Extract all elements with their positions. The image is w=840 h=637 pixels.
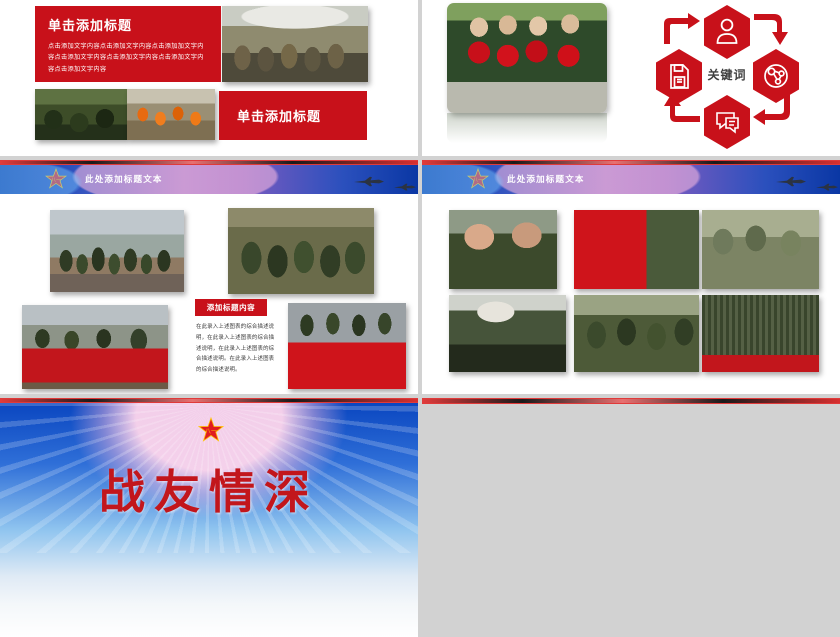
group-hug-photo — [574, 295, 699, 372]
arrow-elbow-down-icon — [752, 12, 792, 51]
bayi-flag-photo — [288, 303, 406, 389]
flood-rescue-photo — [127, 89, 215, 140]
slide-header-bar: 八一 此处添加标题文本 — [422, 165, 840, 194]
caption-title-badge[interactable]: 添加标题内容 — [195, 299, 267, 316]
fighter-jet-icon — [776, 174, 806, 185]
arrow-elbow-right-icon — [662, 12, 702, 51]
svg-text:八一: 八一 — [473, 178, 483, 184]
hexagon-user[interactable] — [702, 4, 752, 60]
bayi-star-emblem-icon: 八一 — [198, 417, 224, 443]
salute-bayi-flag-photo — [574, 210, 699, 289]
slide-thumbnail-photo-collage-title[interactable]: 单击添加标题 点击添加文字内容点击添加文字内容点击添加加文字内容点击添加文字内容… — [0, 0, 418, 156]
fighter-jet-icon-2 — [394, 178, 416, 186]
fighter-jet-icon-2 — [816, 178, 838, 186]
jungle-training-photo — [35, 89, 127, 140]
svg-text:八一: 八一 — [205, 429, 217, 436]
title-card-secondary[interactable]: 单击添加标题 — [219, 91, 367, 140]
rifle-handover-photo — [449, 295, 566, 372]
insignia-removal-photo — [449, 210, 557, 289]
title-card-body: 点击添加文字内容点击添加文字内容点击添加加文字内容点击添加文字内容点击添加文字内… — [48, 41, 208, 75]
slide-thumbnail-empty-placeholder[interactable] — [422, 398, 840, 637]
slide-thumbnail-grid: 单击添加标题 点击添加文字内容点击添加文字内容点击添加加文字内容点击添加文字内容… — [0, 0, 840, 637]
slide-thumbnail-keyword-hexagons[interactable]: 关键词 — [422, 0, 840, 156]
title-card-primary[interactable]: 单击添加标题 点击添加文字内容点击添加文字内容点击添加加文字内容点击添加文字内容… — [35, 6, 221, 82]
retirement-banner-photo — [22, 305, 168, 389]
hexagon-chat[interactable] — [702, 94, 752, 150]
bayi-star-emblem-icon: 八一 — [45, 168, 67, 190]
top-accent-band — [422, 398, 840, 404]
cheering-troops-photo — [50, 210, 184, 292]
empty-slide-body — [422, 405, 840, 637]
slide-thumbnail-gallery-with-caption[interactable]: 八一 此处添加标题文本 添加标题内容 在此录入上述图表的综合描述说明，在此录入上… — [0, 160, 418, 394]
svg-text:八一: 八一 — [51, 178, 61, 184]
title-card-heading: 单击添加标题 — [48, 15, 208, 34]
bayi-star-emblem-icon: 八一 — [467, 168, 489, 190]
slide-header-bar: 八一 此处添加标题文本 — [0, 165, 418, 194]
formation-salute-photo — [702, 295, 819, 372]
slide-thumbnail-cover-title[interactable]: 八一 战友情深 某师某团某连战友联欢会 — [0, 398, 418, 637]
hexagon-cycle-diagram: 关键词 — [614, 0, 840, 156]
embracing-troops-photo — [228, 208, 374, 294]
fighter-jet-icon — [354, 174, 384, 185]
tent-raising-photo — [222, 6, 368, 82]
photo-reflection — [447, 113, 607, 143]
caption-body-text: 在此录入上述图表的综合描述说明，在此录入上述图表的综合描述说明，在此录入上述图表… — [196, 322, 276, 376]
salute-soldiers-photo — [447, 3, 607, 113]
hexagon-center-label: 关键词 — [689, 66, 765, 83]
helmet-farewell-photo — [702, 210, 819, 289]
slide-header-title: 此处添加标题文本 — [507, 173, 585, 185]
slide-header-title: 此处添加标题文本 — [85, 173, 163, 185]
slide-thumbnail-six-photo-grid[interactable]: 八一 此处添加标题文本 — [422, 160, 840, 394]
cover-title: 战友情深 — [0, 456, 418, 522]
